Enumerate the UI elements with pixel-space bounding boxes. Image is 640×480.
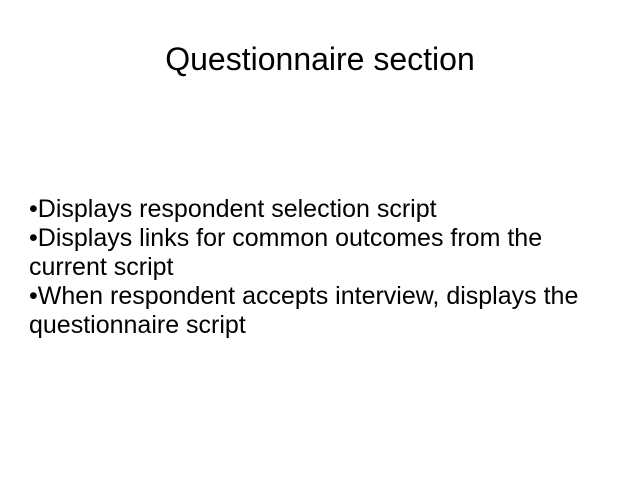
list-item: •Displays respondent selection script — [29, 195, 609, 224]
list-item-label: Displays links for common outcomes from … — [29, 224, 542, 281]
list-item-label: Displays respondent selection script — [38, 195, 437, 223]
page-title: Questionnaire section — [0, 39, 640, 79]
slide-canvas: Questionnaire section •Displays responde… — [0, 0, 640, 480]
list-item: •Displays links for common outcomes from… — [29, 224, 609, 282]
list-item-label: When respondent accepts interview, displ… — [29, 282, 578, 339]
list-item: •When respondent accepts interview, disp… — [29, 282, 609, 340]
bullet-point-icon: • — [29, 282, 38, 310]
bullet-point-icon: • — [29, 195, 38, 223]
bullet-point-icon: • — [29, 224, 38, 252]
bullet-list: •Displays respondent selection script •D… — [29, 195, 609, 340]
